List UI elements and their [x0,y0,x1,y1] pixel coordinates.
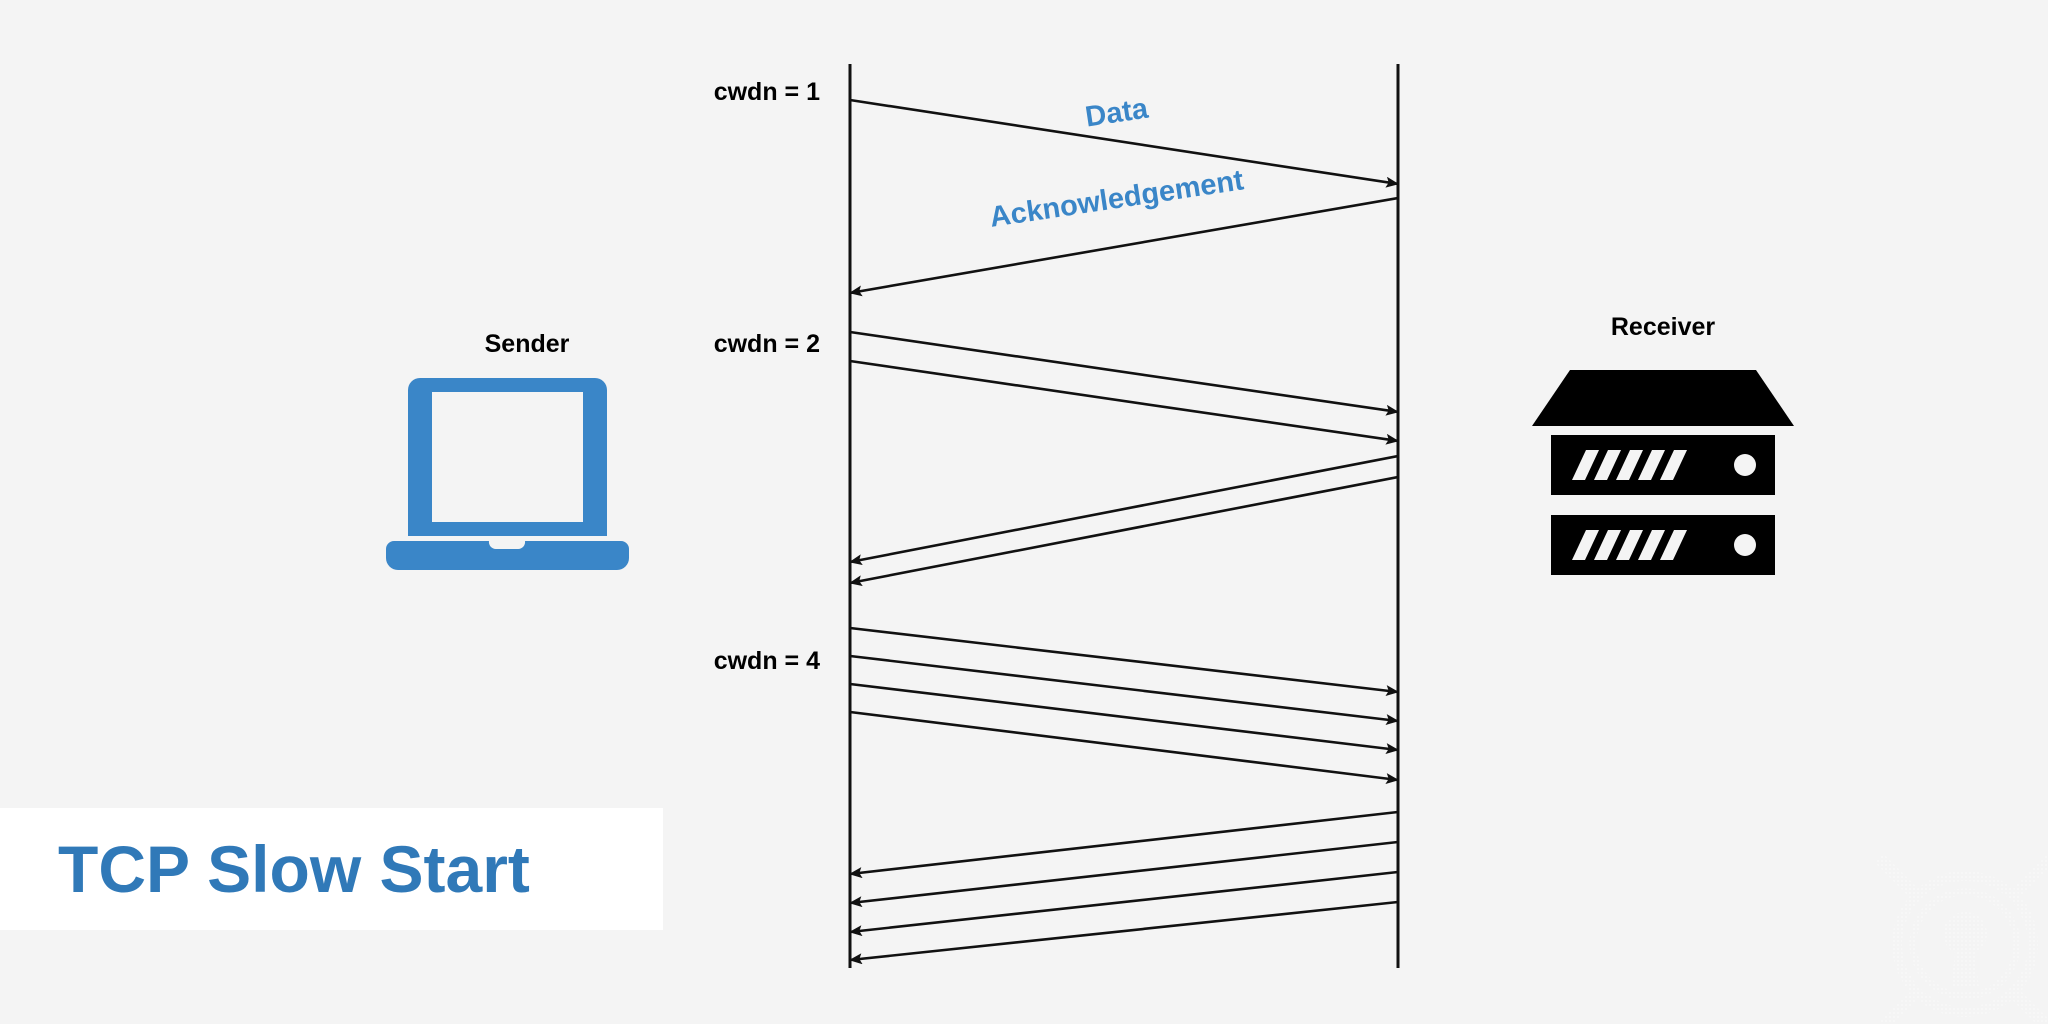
diagram-canvas: TCP Slow Start Sender Receiver [0,0,2048,1024]
page-title: TCP Slow Start [58,832,530,906]
server-rack-icon [1532,370,1794,575]
cwnd-label-3: cwdn = 4 [714,647,820,675]
receiver-label: Receiver [1611,313,1716,341]
title-banner: TCP Slow Start [0,808,663,930]
laptop-icon [386,378,629,570]
cwnd-label-2: cwdn = 2 [714,330,820,358]
cwnd-label-1: cwdn = 1 [714,78,820,106]
tcp-slow-start-sequence-diagram: TCP Slow Start Sender Receiver [0,0,2048,1024]
sender-label: Sender [485,330,570,358]
